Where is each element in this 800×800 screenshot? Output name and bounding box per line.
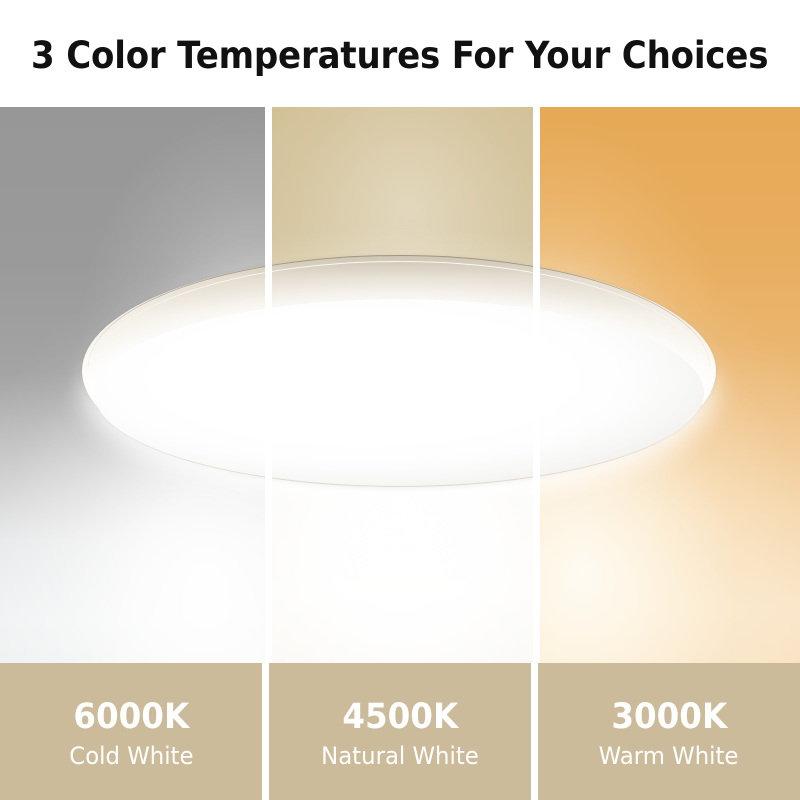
panel-warm-white[interactable] bbox=[540, 107, 800, 663]
ceiling-background-cold-white bbox=[0, 107, 265, 663]
ceiling-background-warm-white bbox=[540, 107, 800, 663]
header: 3 Color Temperatures For Your Choices bbox=[0, 0, 800, 107]
ceiling-background-natural-white bbox=[272, 107, 533, 663]
product-infographic: 3 Color Temperatures For Your Choices 60 bbox=[0, 0, 800, 800]
panel-natural-white[interactable] bbox=[272, 107, 533, 663]
color-temperature-caption-band: 6000K Cold White 4500K Natural White 300… bbox=[0, 663, 800, 800]
page-title: 3 Color Temperatures For Your Choices bbox=[31, 37, 768, 74]
kelvin-value-cold-white: 6000K bbox=[73, 699, 189, 736]
caption-divider-1 bbox=[262, 663, 269, 800]
panel-cold-white[interactable] bbox=[0, 107, 265, 663]
panel-divider-2 bbox=[533, 107, 540, 663]
kelvin-value-warm-white: 3000K bbox=[611, 699, 727, 736]
caption-cold-white[interactable]: 6000K Cold White bbox=[0, 663, 262, 800]
caption-natural-white[interactable]: 4500K Natural White bbox=[269, 663, 531, 800]
kelvin-label-natural-white: Natural White bbox=[321, 743, 479, 771]
kelvin-label-warm-white: Warm White bbox=[599, 743, 739, 771]
lighting-comparison-stage bbox=[0, 107, 800, 663]
kelvin-value-natural-white: 4500K bbox=[342, 699, 458, 736]
kelvin-label-cold-white: Cold White bbox=[69, 743, 193, 771]
panel-divider-1 bbox=[265, 107, 272, 663]
caption-divider-2 bbox=[531, 663, 538, 800]
caption-warm-white[interactable]: 3000K Warm White bbox=[538, 663, 800, 800]
